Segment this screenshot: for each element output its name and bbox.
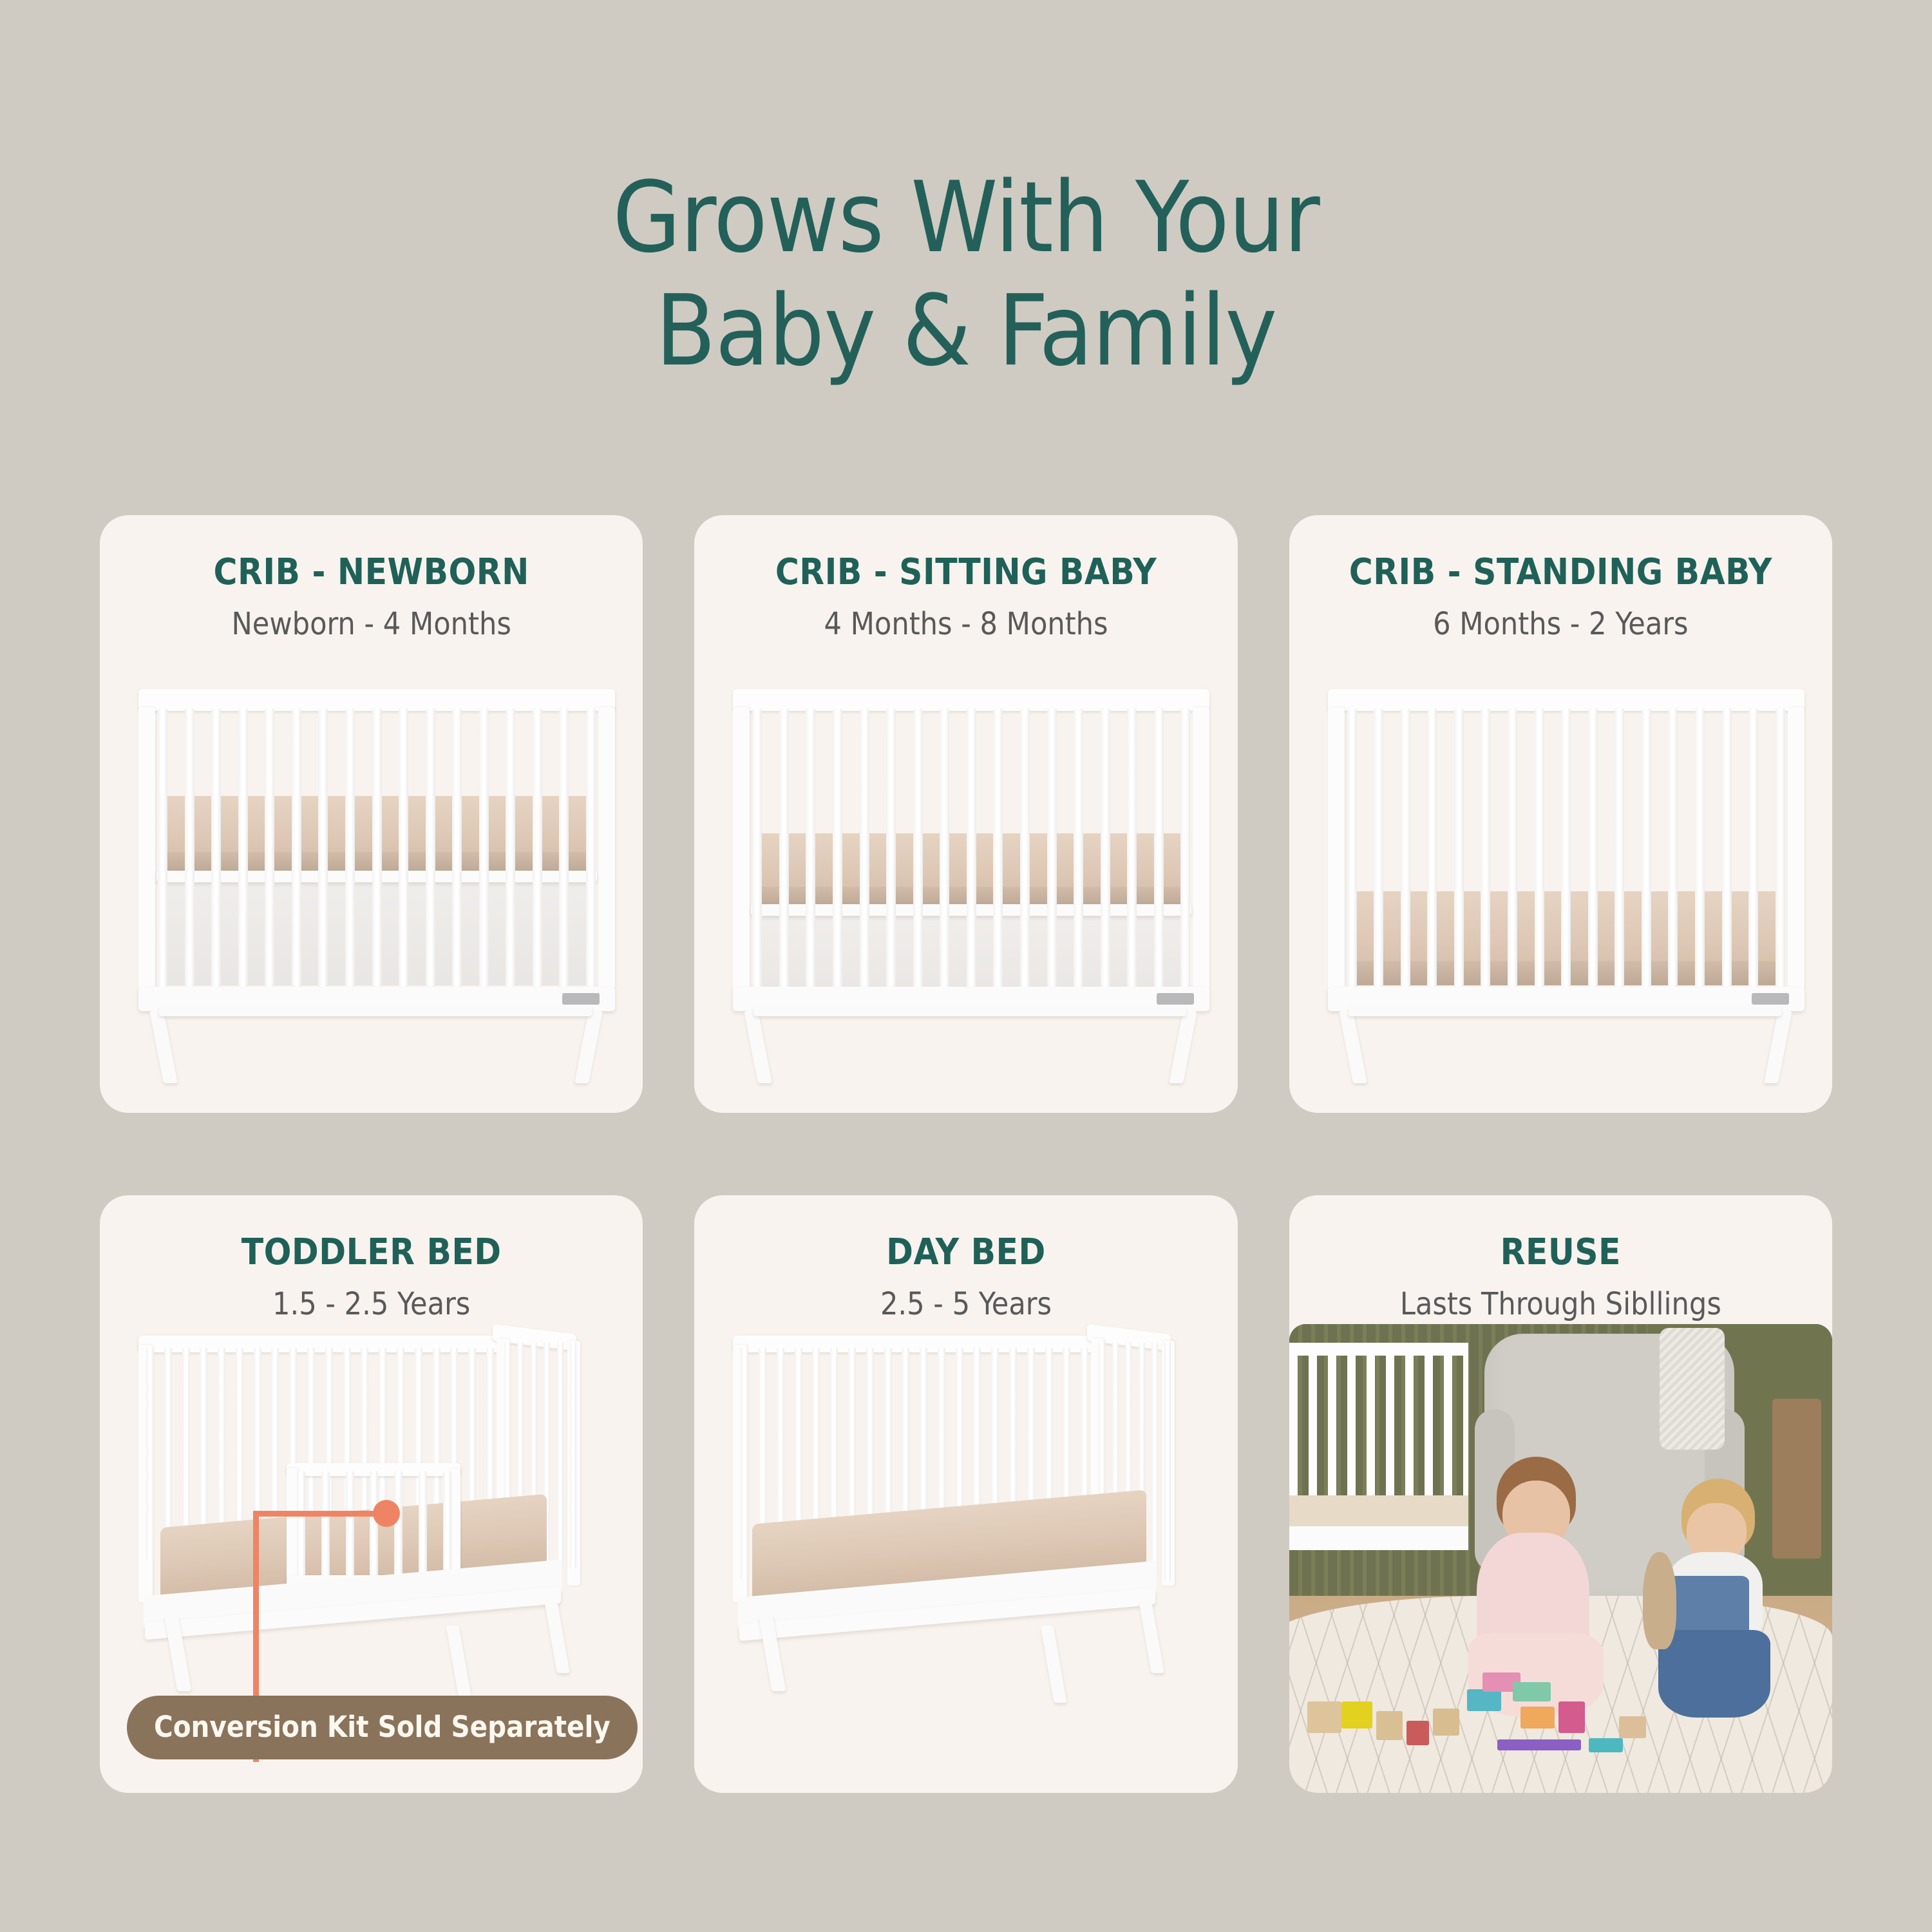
- card-day-bed[interactable]: DAY BED 2.5 - 5 Years: [694, 1195, 1237, 1793]
- card-subtitle: Lasts Through Sibllings: [1289, 1286, 1832, 1322]
- card-title: TODDLER BED: [100, 1231, 643, 1273]
- card-toddler-bed[interactable]: TODDLER BED 1.5 - 2.5 Years: [100, 1195, 643, 1793]
- page-title-line-1: Grows With Your: [0, 161, 1932, 274]
- callout-endpoint-dot: [373, 1500, 400, 1527]
- callout-horizontal-line: [253, 1511, 385, 1517]
- card-subtitle: 2.5 - 5 Years: [694, 1286, 1237, 1322]
- card-title: REUSE: [1289, 1231, 1832, 1273]
- card-subtitle: Newborn - 4 Months: [100, 606, 643, 642]
- crib-illustration-sitting: [694, 644, 1237, 1113]
- crib-illustration-newborn: [100, 644, 643, 1113]
- card-title: CRIB - STANDING BABY: [1289, 551, 1832, 593]
- crib-illustration-standing: [1289, 644, 1832, 1113]
- brand-logo-tag: [1752, 993, 1789, 1005]
- card-crib-newborn[interactable]: CRIB - NEWBORN Newborn - 4 Months: [100, 515, 643, 1113]
- card-header: CRIB - SITTING BABY 4 Months - 8 Months: [694, 515, 1237, 642]
- card-header: CRIB - STANDING BABY 6 Months - 2 Years: [1289, 515, 1832, 642]
- card-title: CRIB - SITTING BABY: [694, 551, 1237, 593]
- conversion-kit-badge: Conversion Kit Sold Separately: [127, 1696, 638, 1759]
- card-subtitle: 1.5 - 2.5 Years: [100, 1286, 643, 1322]
- day-bed-illustration: [694, 1324, 1237, 1793]
- page-title-line-2: Baby & Family: [0, 274, 1932, 388]
- card-crib-sitting-baby[interactable]: CRIB - SITTING BABY 4 Months - 8 Months: [694, 515, 1237, 1113]
- brand-logo-tag: [1157, 993, 1194, 1005]
- card-subtitle: 4 Months - 8 Months: [694, 606, 1237, 642]
- teddy-bear-toy: [1643, 1552, 1677, 1649]
- toddler-guard-rail: [287, 1463, 460, 1586]
- card-reuse[interactable]: REUSE Lasts Through Sibllings: [1289, 1195, 1832, 1793]
- card-header: REUSE Lasts Through Sibllings: [1289, 1195, 1832, 1322]
- card-header: DAY BED 2.5 - 5 Years: [694, 1195, 1237, 1322]
- background-crib: [1289, 1343, 1468, 1605]
- card-title: CRIB - NEWBORN: [100, 551, 643, 593]
- page-title: Grows With Your Baby & Family: [0, 161, 1932, 388]
- card-crib-standing-baby[interactable]: CRIB - STANDING BABY 6 Months - 2 Years: [1289, 515, 1832, 1113]
- card-title: DAY BED: [694, 1231, 1237, 1273]
- card-subtitle: 6 Months - 2 Years: [1289, 606, 1832, 642]
- card-header: TODDLER BED 1.5 - 2.5 Years: [100, 1195, 643, 1322]
- stage-card-grid: CRIB - NEWBORN Newborn - 4 Months: [100, 515, 1832, 1835]
- knit-throw-blanket: [1660, 1328, 1725, 1450]
- wooden-block-set: [1300, 1643, 1680, 1765]
- card-header: CRIB - NEWBORN Newborn - 4 Months: [100, 515, 643, 642]
- reuse-lifestyle-photo: [1289, 1324, 1832, 1793]
- brand-logo-tag: [562, 993, 600, 1005]
